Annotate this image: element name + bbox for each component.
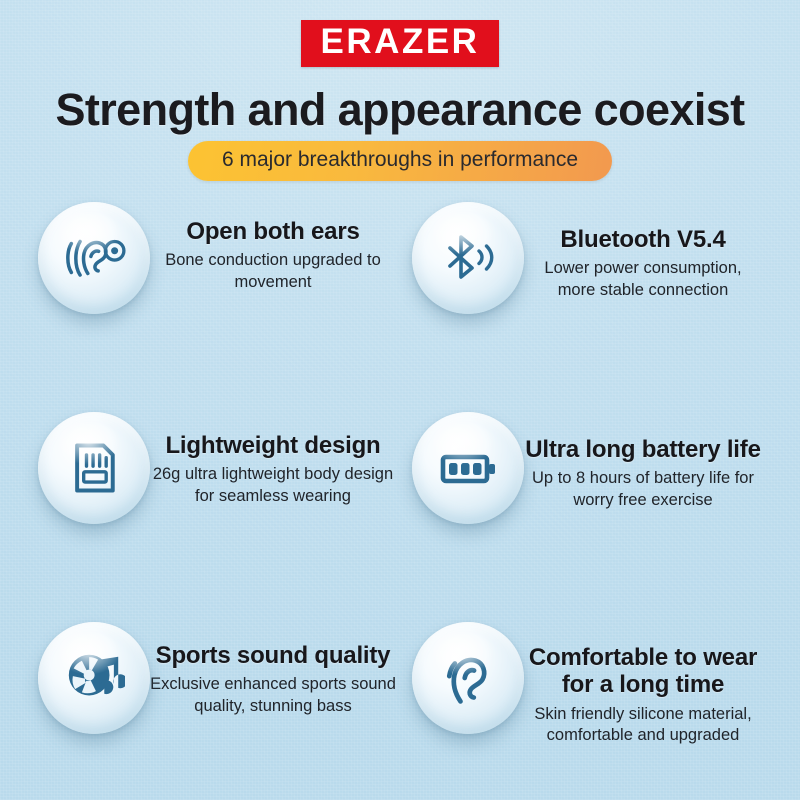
- feature-icon-orb: [412, 622, 524, 734]
- feature-grid: Open both ears Bone conduction upgraded …: [38, 196, 762, 794]
- product-infographic: ERAZER Strength and appearance coexist 6…: [0, 0, 800, 800]
- feature-icon-orb: [38, 412, 150, 524]
- feature-text: Sports sound quality Exclusive enhanced …: [150, 616, 396, 718]
- feature-description: Skin friendly silicone material, comfort…: [524, 704, 762, 748]
- brand-logo-box: ERAZER: [301, 20, 500, 67]
- subtitle-text: 6 major breakthroughs in performance: [222, 147, 578, 173]
- feature-title: Open both ears: [150, 218, 396, 245]
- feature-item: Sports sound quality Exclusive enhanced …: [38, 616, 396, 794]
- feature-text: Comfortable to wear for a long time Skin…: [524, 616, 762, 747]
- feature-description: Exclusive enhanced sports sound quality,…: [150, 674, 396, 718]
- feature-item: Lightweight design 26g ultra lightweight…: [38, 406, 396, 584]
- feature-description: 26g ultra lightweight body design for se…: [150, 464, 396, 508]
- subtitle-banner: 6 major breakthroughs in performance: [0, 141, 800, 181]
- battery-level-bars-icon: [449, 463, 482, 475]
- feature-icon-orb: [38, 622, 150, 734]
- feature-text: Ultra long battery life Up to 8 hours of…: [524, 406, 762, 512]
- feature-item: Open both ears Bone conduction upgraded …: [38, 196, 396, 374]
- feature-description: Bone conduction upgraded to movement: [150, 250, 396, 294]
- feature-description: Up to 8 hours of battery life for worry …: [524, 468, 762, 512]
- ear-listening-icon: [61, 225, 127, 291]
- feature-title: Lightweight design: [150, 432, 396, 459]
- brand-logo: ERAZER: [0, 20, 800, 67]
- bluetooth-signal-icon: [436, 226, 500, 290]
- ear-outline-icon: [438, 648, 498, 708]
- subtitle-pill: 6 major breakthroughs in performance: [188, 141, 612, 181]
- sim-chip-window-icon: [84, 472, 107, 482]
- feature-description: Lower power consumption, more stable con…: [524, 258, 762, 302]
- disc-music-note-icon: [63, 647, 125, 709]
- sim-card-icon: [64, 438, 124, 498]
- battery-terminal-icon: [489, 464, 495, 474]
- feature-item: Bluetooth V5.4 Lower power consumption, …: [404, 196, 762, 374]
- page-title: Strength and appearance coexist: [0, 84, 800, 136]
- brand-name: ERAZER: [321, 24, 480, 60]
- feature-icon-orb: [412, 412, 524, 524]
- feature-title: Bluetooth V5.4: [524, 226, 762, 253]
- feature-title: Sports sound quality: [150, 642, 396, 669]
- feature-item: Comfortable to wear for a long time Skin…: [404, 616, 762, 794]
- battery-full-icon: [436, 436, 500, 500]
- feature-item: Ultra long battery life Up to 8 hours of…: [404, 406, 762, 584]
- feature-title: Comfortable to wear for a long time: [524, 644, 762, 699]
- feature-icon-orb: [38, 202, 150, 314]
- feature-icon-orb: [412, 202, 524, 314]
- sim-contacts-icon: [87, 455, 107, 466]
- feature-text: Lightweight design 26g ultra lightweight…: [150, 406, 396, 508]
- target-dot-icon: [111, 247, 118, 254]
- feature-text: Bluetooth V5.4 Lower power consumption, …: [524, 196, 762, 302]
- feature-text: Open both ears Bone conduction upgraded …: [150, 196, 396, 294]
- signal-waves-icon: [479, 246, 492, 269]
- feature-title: Ultra long battery life: [524, 436, 762, 463]
